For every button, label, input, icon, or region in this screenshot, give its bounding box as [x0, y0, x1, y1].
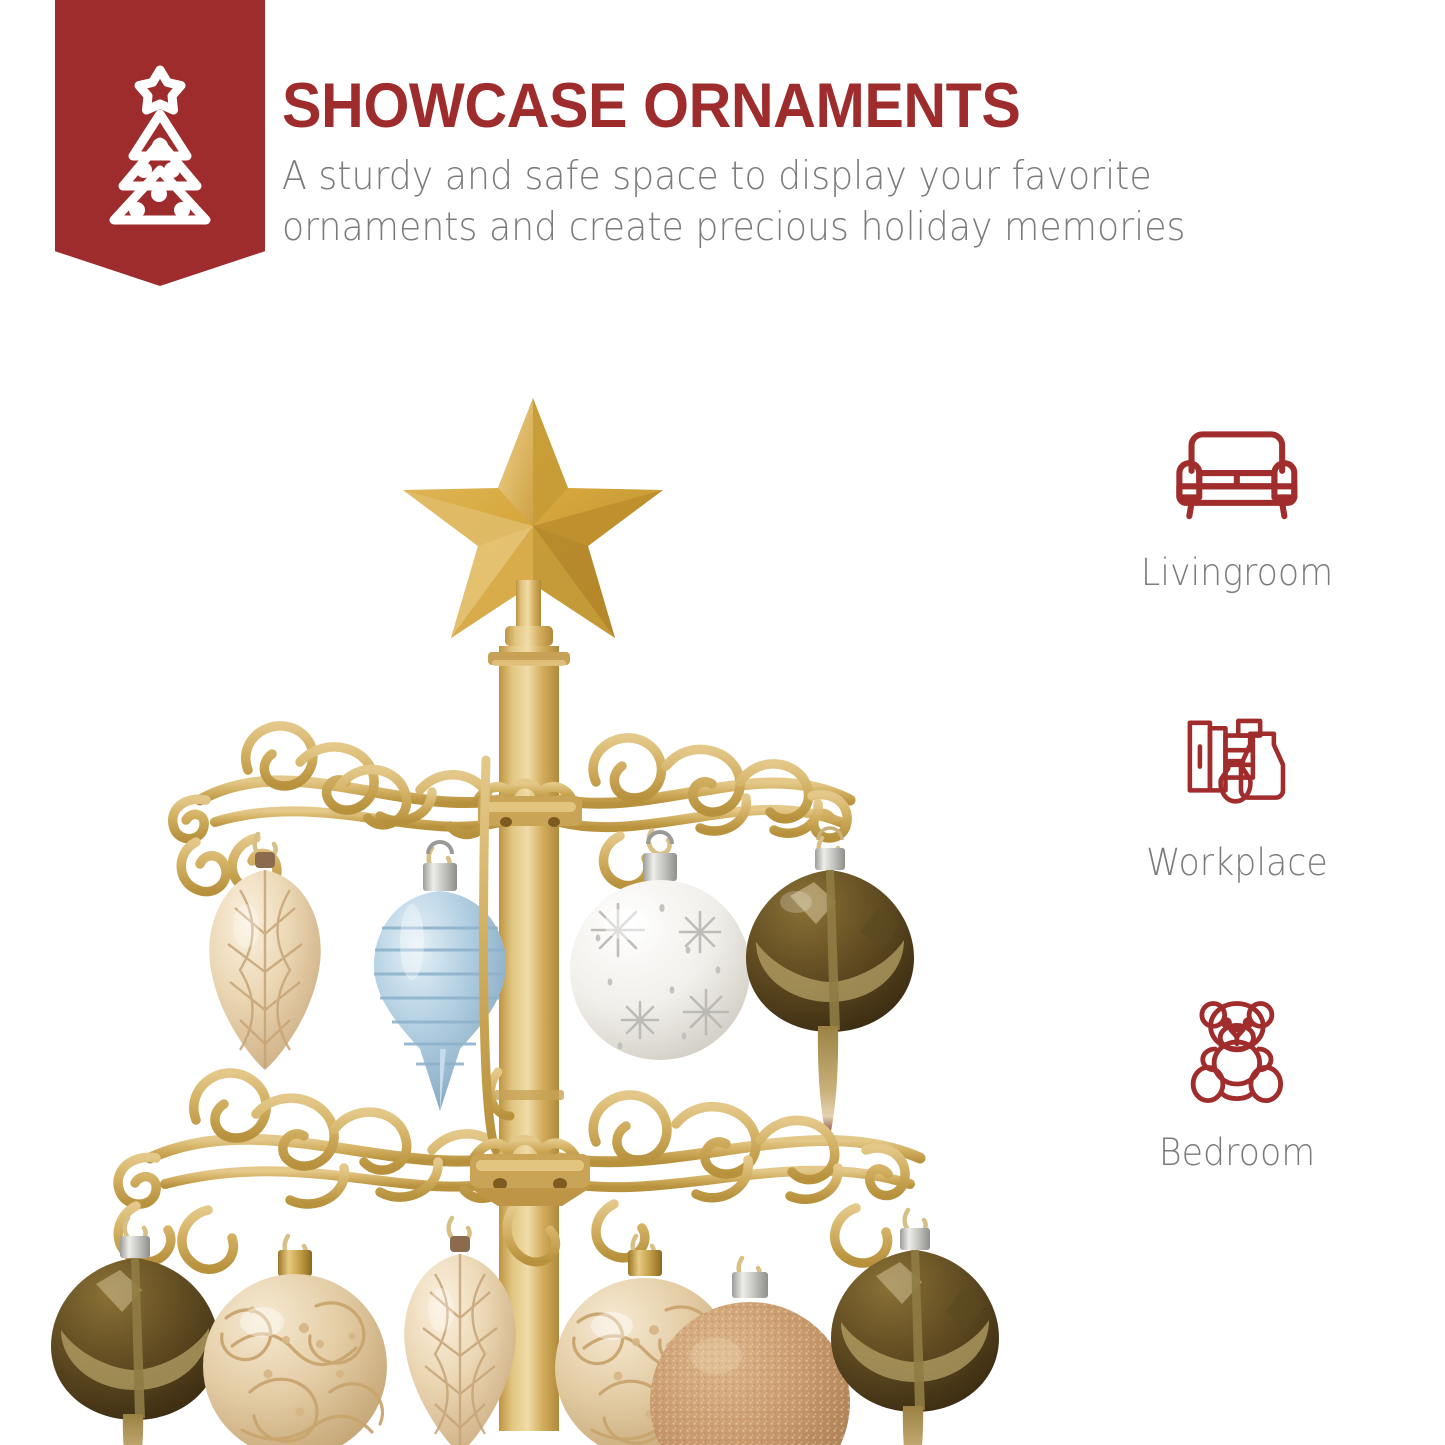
feature-item-bedroom: Bedroom: [1077, 1000, 1397, 1290]
amber-onion-finial-ornament: [746, 828, 914, 1136]
christmas-tree-icon: [96, 64, 224, 232]
ornament-display-tree-stand: [0, 330, 1060, 1445]
header-text-block: SHOWCASE ORNAMENTS A sturdy and safe spa…: [282, 74, 1402, 254]
feature-item-livingroom: Livingroom: [1077, 420, 1397, 710]
feature-label-livingroom: Livingroom: [1087, 551, 1388, 594]
subtitle-line-2: ornaments and create precious holiday me…: [282, 203, 1324, 254]
brand-ribbon-banner: [55, 0, 265, 286]
bookshelf-vases-icon: [1178, 710, 1297, 815]
header: SHOWCASE ORNAMENTS A sturdy and safe spa…: [0, 0, 1445, 300]
marketing-product-image: SHOWCASE ORNAMENTS A sturdy and safe spa…: [0, 0, 1445, 1445]
page-title: SHOWCASE ORNAMENTS: [282, 74, 1335, 138]
sofa-icon: [1165, 420, 1309, 525]
feature-item-workplace: Workplace: [1077, 710, 1397, 1000]
product-photo-ornament-tree-stand: [0, 330, 1060, 1445]
feature-list: Livingroom: [1077, 420, 1397, 1290]
silver-starburst-ball-ornament: [570, 832, 750, 1060]
gold-filigree-ball-ornament: [203, 1250, 387, 1445]
feature-label-bedroom: Bedroom: [1087, 1131, 1388, 1174]
teddy-bear-icon: [1180, 1000, 1294, 1105]
subtitle-line-1: A sturdy and safe space to display your …: [282, 152, 1324, 203]
feature-label-workplace: Workplace: [1087, 841, 1388, 884]
page-subtitle: A sturdy and safe space to display your …: [282, 152, 1324, 253]
